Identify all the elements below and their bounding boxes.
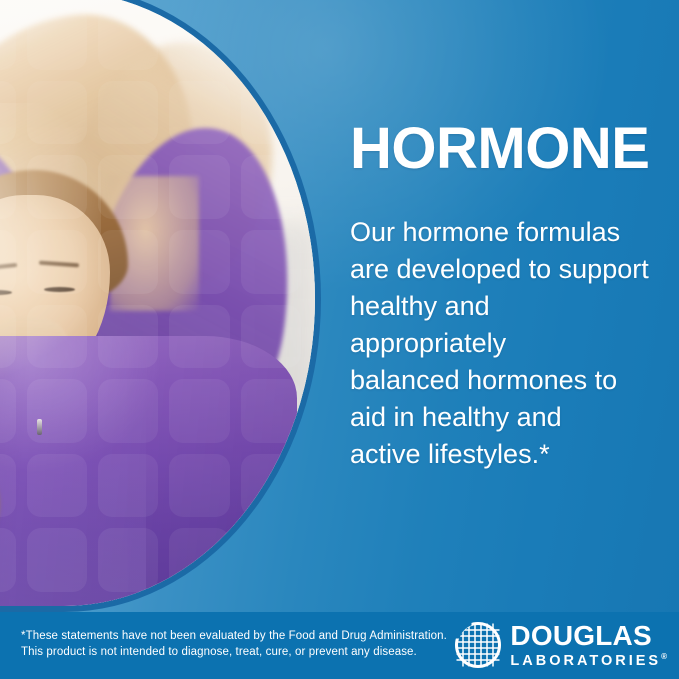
lifestyle-photo xyxy=(0,0,315,606)
logo-wordmark: DOUGLAS LABORATORIES® xyxy=(510,622,667,668)
photo-torso-shading xyxy=(0,336,297,606)
fda-disclaimer-line-1: *These statements have not been evaluate… xyxy=(21,629,447,645)
grid-sphere-icon xyxy=(455,622,501,668)
body-copy: Our hormone formulas are developed to su… xyxy=(350,214,650,473)
body-copy-line: healthy and appropriately xyxy=(350,288,650,362)
footer-bar: *These statements have not been evaluate… xyxy=(0,612,679,679)
douglas-laboratories-logo: DOUGLAS LABORATORIES® xyxy=(455,622,667,668)
photo-eye-right xyxy=(44,287,75,292)
fda-disclaimer-line-2: This product is not intended to diagnose… xyxy=(21,645,447,661)
logo-subtitle-text: LABORATORIES xyxy=(510,653,661,669)
body-copy-line: are developed to support xyxy=(350,251,650,288)
photo-zipper xyxy=(37,419,42,435)
hormone-product-banner: HORMONE Our hormone formulas are develop… xyxy=(0,0,679,679)
logo-brand-name: DOUGLAS xyxy=(510,622,667,650)
page-title: HORMONE xyxy=(350,120,649,178)
registered-trademark-icon: ® xyxy=(661,652,667,661)
body-copy-line: balanced hormones to xyxy=(350,362,650,399)
fda-disclaimer: *These statements have not been evaluate… xyxy=(21,629,447,660)
body-copy-line: Our hormone formulas xyxy=(350,214,650,251)
body-copy-line: active lifestyles.* xyxy=(350,436,650,473)
lifestyle-photo-panel xyxy=(0,0,315,606)
logo-brand-subtitle: LABORATORIES® xyxy=(510,653,667,668)
body-copy-line: aid in healthy and xyxy=(350,399,650,436)
